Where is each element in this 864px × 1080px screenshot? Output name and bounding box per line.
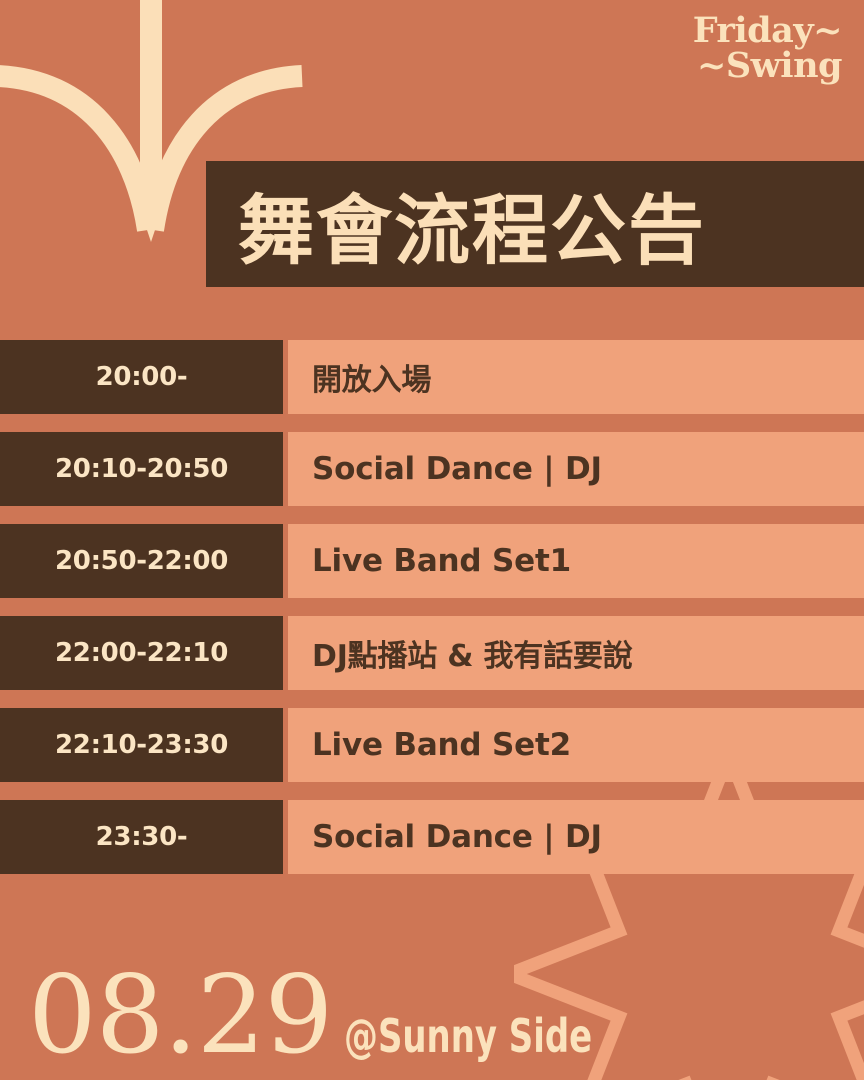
schedule-row-label-block: 開放入場: [288, 340, 864, 414]
schedule-row: 20:00-開放入場: [0, 340, 864, 414]
schedule-row-label-block: Social Dance | DJ: [288, 432, 864, 506]
schedule-row-label-block: DJ點播站 & 我有話要說: [288, 616, 864, 690]
schedule-row-time-block: 23:30-: [0, 800, 283, 874]
footer: 08.29 @Sunny Side: [28, 962, 647, 1070]
schedule-row-time: 20:10-20:50: [55, 454, 228, 484]
event-date: 08.29: [28, 962, 332, 1070]
brand-logo: Friday~ ~Swing: [693, 14, 842, 83]
schedule-row-time: 23:30-: [96, 822, 188, 852]
schedule-row-label: Social Dance | DJ: [312, 451, 602, 487]
schedule-row-time-block: 22:00-22:10: [0, 616, 283, 690]
schedule-row-time: 20:50-22:00: [55, 546, 228, 576]
schedule-row-time-block: 20:50-22:00: [0, 524, 283, 598]
schedule-row: 22:00-22:10DJ點播站 & 我有話要說: [0, 616, 864, 690]
schedule-row: 22:10-23:30Live Band Set2: [0, 708, 864, 782]
schedule-row-time: 22:10-23:30: [55, 730, 228, 760]
schedule-row-time-block: 22:10-23:30: [0, 708, 283, 782]
schedule-list: 20:00-開放入場20:10-20:50Social Dance | DJ20…: [0, 340, 864, 892]
schedule-row: 20:10-20:50Social Dance | DJ: [0, 432, 864, 506]
schedule-row: 23:30-Social Dance | DJ: [0, 800, 864, 874]
event-venue: @Sunny Side: [344, 1013, 592, 1059]
schedule-row-time-block: 20:10-20:50: [0, 432, 283, 506]
schedule-row-label-block: Live Band Set2: [288, 708, 864, 782]
schedule-row-time-block: 20:00-: [0, 340, 283, 414]
schedule-row-label: Live Band Set2: [312, 727, 571, 763]
poster-canvas: Friday~ ~Swing 舞會流程公告 20:00-開放入場20:10-20…: [0, 0, 864, 1080]
schedule-row-time: 20:00-: [96, 362, 188, 392]
page-title: 舞會流程公告: [206, 169, 706, 279]
schedule-row-label: Live Band Set1: [312, 543, 571, 579]
schedule-row-label: DJ點播站 & 我有話要說: [312, 631, 633, 675]
title-banner: 舞會流程公告: [206, 161, 864, 287]
schedule-row: 20:50-22:00Live Band Set1: [0, 524, 864, 598]
schedule-row-label: 開放入場: [312, 355, 431, 399]
schedule-row-label-block: Live Band Set1: [288, 524, 864, 598]
logo-line-2: ~Swing: [693, 49, 842, 84]
logo-line-1: Friday~: [693, 14, 842, 49]
schedule-row-time: 22:00-22:10: [55, 638, 228, 668]
schedule-row-label-block: Social Dance | DJ: [288, 800, 864, 874]
schedule-row-label: Social Dance | DJ: [312, 819, 602, 855]
